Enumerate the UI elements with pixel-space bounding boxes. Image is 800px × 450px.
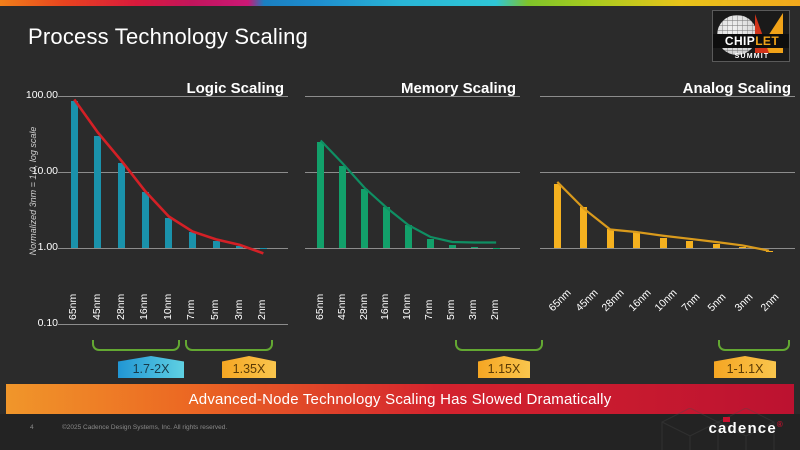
range-bracket: [718, 340, 790, 351]
y-tick-label: 100.00: [12, 89, 58, 101]
x-tick-label: 2nm: [759, 291, 782, 314]
slide-footer: 4 ©2025 Cadence Design Systems, Inc. All…: [0, 414, 800, 450]
chart-bar: [118, 163, 125, 248]
page-title: Process Technology Scaling: [28, 24, 308, 50]
scaling-factor-badge: 1.35X: [222, 356, 276, 378]
chart-bar: [339, 166, 346, 248]
gridline: [58, 172, 288, 173]
cadence-logo: cadence®: [708, 420, 784, 437]
scaling-factor-badge: 1.15X: [478, 356, 530, 378]
page-number: 4: [30, 424, 34, 431]
gridline: [540, 248, 795, 249]
chart-bar: [739, 247, 746, 248]
range-bracket: [92, 340, 180, 351]
chart-bar: [142, 192, 149, 248]
x-tick-label: 16nm: [379, 294, 391, 320]
x-tick-label: 5nm: [706, 291, 729, 314]
chart-bar: [189, 232, 196, 248]
x-tick-label: 16nm: [626, 287, 653, 314]
x-axis: 65nm45nm28nm16nm10nm7nm5nm3nm2nm: [58, 250, 288, 320]
chart-title: Logic Scaling: [186, 80, 284, 97]
chart-bar: [713, 244, 720, 248]
x-tick-label: 5nm: [445, 300, 457, 320]
range-bracket: [185, 340, 273, 351]
chart-panel: Logic Scaling65nm45nm28nm16nm10nm7nm5nm3…: [58, 68, 288, 338]
gridline: [305, 248, 520, 249]
charts-area: Normalized 3nm = 1.0, log scale 100.0010…: [0, 68, 800, 338]
summary-banner-text: Advanced-Node Technology Scaling Has Slo…: [189, 391, 612, 408]
chart-bar: [633, 232, 640, 248]
chiplet-summit-logo: CHIPLET SUMMIT: [712, 10, 790, 62]
chart-bar: [94, 136, 101, 248]
scaling-factor-badge: 1.7-2X: [118, 356, 184, 378]
x-axis: 65nm45nm28nm16nm10nm7nm5nm3nm2nm: [305, 250, 520, 320]
x-tick-label: 3nm: [732, 291, 755, 314]
chart-bar: [554, 184, 561, 248]
slide-header: Process Technology Scaling CHIPLET SUMMI…: [0, 6, 800, 68]
chart-bar: [405, 225, 412, 248]
scaling-factor-badge: 1-1.1X: [714, 356, 776, 378]
range-bracket: [455, 340, 543, 351]
x-tick-label: 28nm: [358, 294, 370, 320]
chart-bar: [383, 207, 390, 248]
y-tick-label: 0.10: [12, 317, 58, 329]
x-tick-label: 10nm: [653, 287, 680, 314]
cadence-accent-mark: [723, 417, 730, 422]
x-tick-label: 65nm: [314, 294, 326, 320]
x-tick-label: 2nm: [256, 300, 268, 320]
y-tick-label: 10.00: [12, 165, 58, 177]
x-tick-label: 3nm: [467, 300, 479, 320]
x-tick-label: 45nm: [573, 287, 600, 314]
x-tick-label: 28nm: [115, 294, 127, 320]
x-tick-label: 16nm: [138, 294, 150, 320]
x-tick-label: 45nm: [336, 294, 348, 320]
x-tick-label: 3nm: [233, 300, 245, 320]
gridline: [58, 248, 288, 249]
logo-word-2: LET: [755, 34, 779, 48]
x-tick-label: 65nm: [547, 287, 574, 314]
x-tick-label: 5nm: [209, 300, 221, 320]
x-tick-label: 2nm: [489, 300, 501, 320]
x-tick-label: 7nm: [679, 291, 702, 314]
chart-bar: [317, 142, 324, 248]
y-axis: Normalized 3nm = 1.0, log scale 100.0010…: [0, 68, 58, 338]
chart-bar: [493, 248, 500, 249]
gridline: [58, 324, 288, 325]
chart-panel: Analog Scaling65nm45nm28nm16nm10nm7nm5nm…: [540, 68, 795, 338]
chart-bar: [471, 247, 478, 248]
chart-bar: [236, 246, 243, 248]
logo-word-1: CHIP: [725, 34, 755, 48]
chart-bar: [607, 229, 614, 248]
logo-wordmark: CHIPLET: [713, 35, 790, 47]
chart-bar: [361, 189, 368, 248]
x-tick-label: 10nm: [162, 294, 174, 320]
chart-bar: [260, 248, 267, 249]
copyright-text: ©2025 Cadence Design Systems, Inc. All r…: [62, 424, 227, 431]
chart-bar: [71, 101, 78, 248]
chart-bar: [686, 241, 693, 248]
gridline: [305, 172, 520, 173]
cadence-wordmark: cadence: [708, 420, 776, 437]
x-tick-label: 28nm: [600, 287, 627, 314]
logo-subtitle: SUMMIT: [713, 53, 790, 60]
chart-panel: Memory Scaling65nm45nm28nm16nm10nm7nm5nm…: [305, 68, 520, 338]
chart-title: Analog Scaling: [683, 80, 791, 97]
chart-bar: [165, 218, 172, 248]
chart-title: Memory Scaling: [401, 80, 516, 97]
x-axis: 65nm45nm28nm16nm10nm7nm5nm3nm2nm: [540, 250, 795, 320]
gridline: [540, 172, 795, 173]
x-tick-label: 10nm: [401, 294, 413, 320]
chart-bar: [580, 207, 587, 248]
chart-bar: [660, 238, 667, 248]
y-tick-label: 1.00: [12, 241, 58, 253]
x-tick-label: 65nm: [67, 294, 79, 320]
chart-bar: [427, 239, 434, 248]
x-tick-label: 45nm: [91, 294, 103, 320]
registered-mark: ®: [777, 420, 784, 429]
chart-bar: [449, 245, 456, 248]
x-tick-label: 7nm: [185, 300, 197, 320]
chart-bar: [213, 241, 220, 248]
x-tick-label: 7nm: [423, 300, 435, 320]
